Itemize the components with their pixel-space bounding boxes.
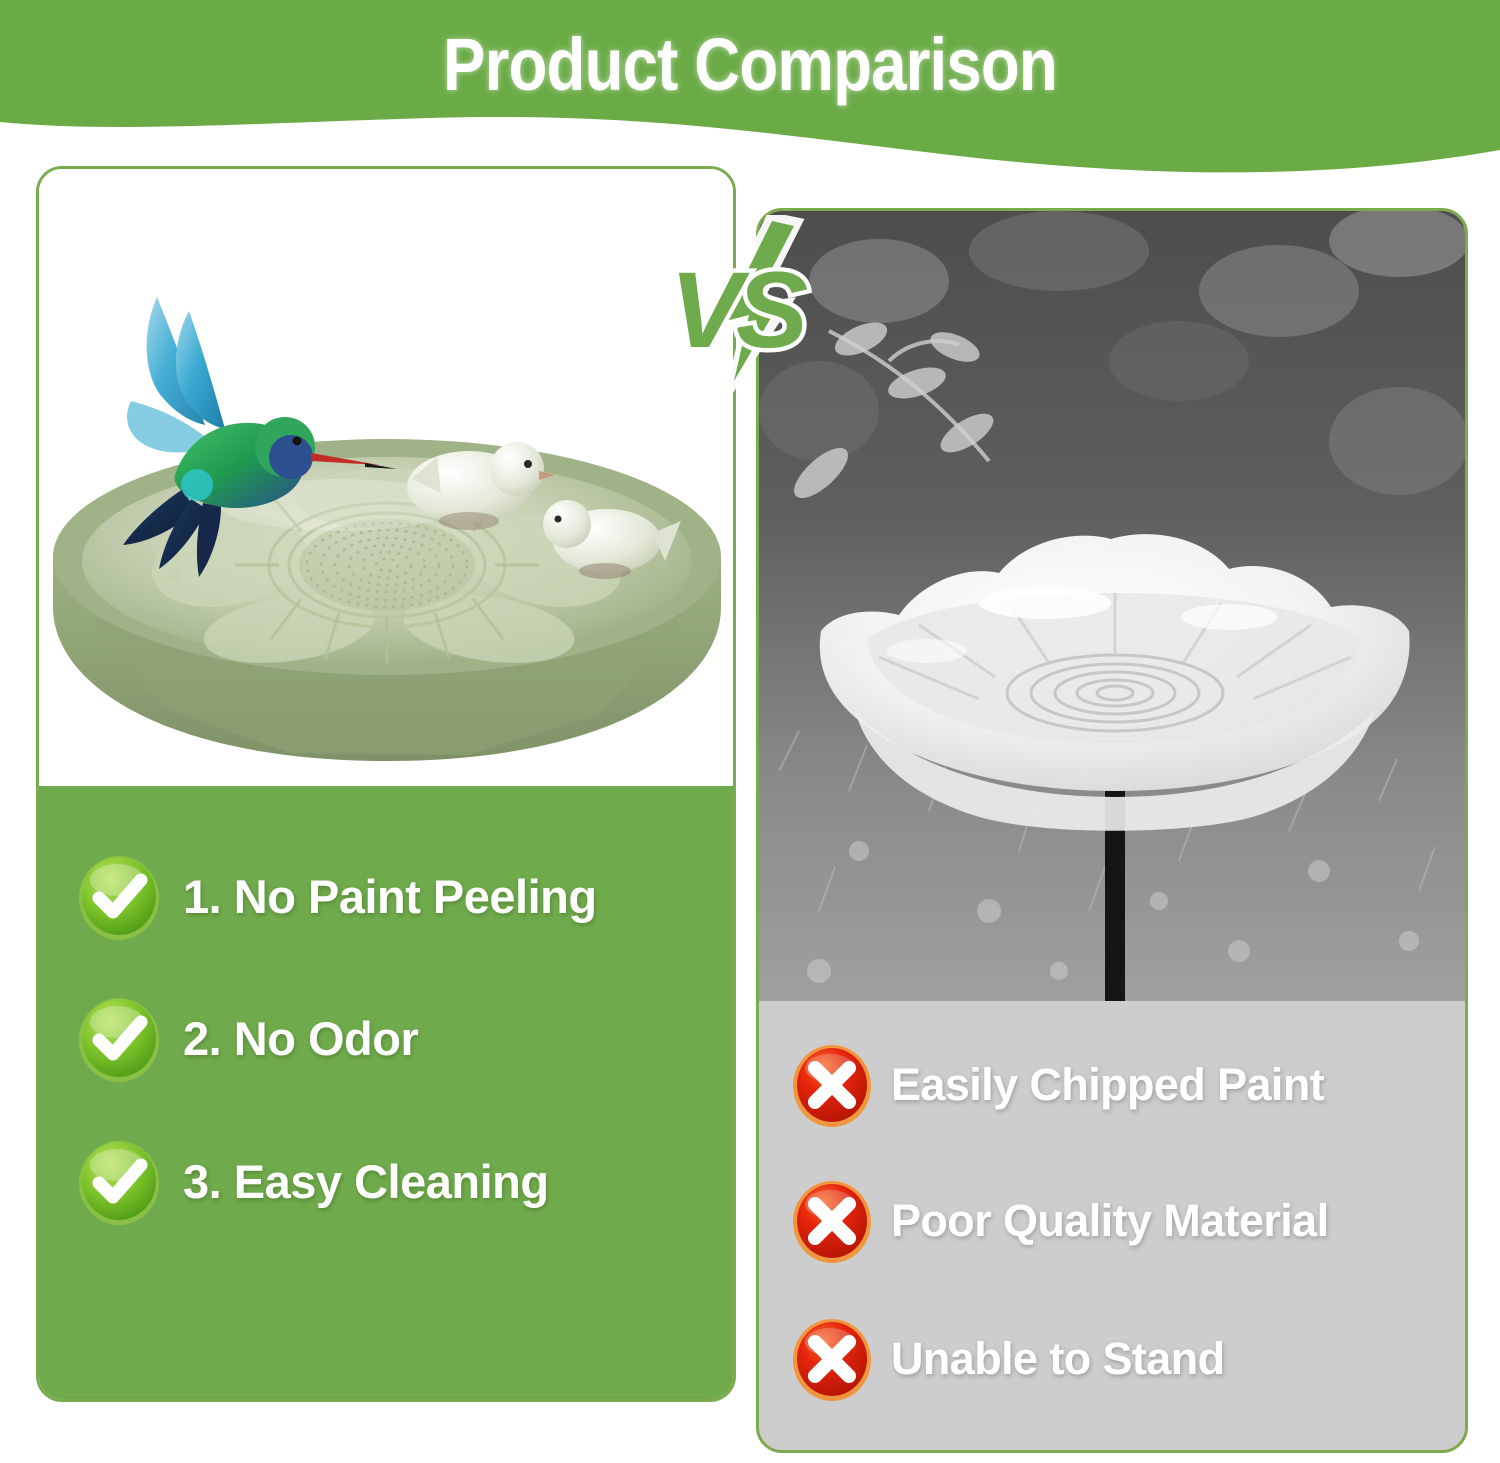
benefit-label: 2. No Odor bbox=[183, 1011, 418, 1066]
benefit-label: 3. Easy Cleaning bbox=[183, 1154, 549, 1209]
x-icon bbox=[791, 1316, 873, 1402]
drawback-label: Poor Quality Material bbox=[891, 1195, 1329, 1247]
drawbacks-panel: Easily Chipped Paint Poor Quality Materi… bbox=[759, 1001, 1465, 1450]
check-icon bbox=[77, 1137, 161, 1225]
drawback-item: Easily Chipped Paint bbox=[791, 1039, 1468, 1131]
good-product-card: 1. No Paint Peeling 2. No Odor bbox=[36, 166, 736, 1402]
benefit-item: 2. No Odor bbox=[77, 988, 717, 1088]
drawback-label: Easily Chipped Paint bbox=[891, 1059, 1324, 1111]
benefit-item: 3. Easy Cleaning bbox=[77, 1131, 717, 1231]
x-icon bbox=[791, 1178, 873, 1264]
glass-birdbath-photo-illustration bbox=[759, 211, 1465, 1004]
benefit-label: 1. No Paint Peeling bbox=[183, 869, 597, 924]
x-icon bbox=[791, 1042, 873, 1128]
page-title: Product Comparison bbox=[105, 22, 1395, 107]
benefits-panel: 1. No Paint Peeling 2. No Odor bbox=[39, 786, 733, 1402]
bad-product-photo bbox=[759, 211, 1465, 1004]
check-icon bbox=[77, 852, 161, 940]
check-icon bbox=[77, 994, 161, 1082]
good-product-photo bbox=[39, 169, 733, 789]
drawback-item: Unable to Stand bbox=[791, 1313, 1468, 1405]
bad-product-card: Easily Chipped Paint Poor Quality Materi… bbox=[756, 208, 1468, 1453]
ceramic-birdbath-illustration bbox=[39, 169, 733, 789]
drawback-item: Poor Quality Material bbox=[791, 1175, 1468, 1267]
benefit-item: 1. No Paint Peeling bbox=[77, 846, 717, 946]
drawback-label: Unable to Stand bbox=[891, 1333, 1225, 1385]
